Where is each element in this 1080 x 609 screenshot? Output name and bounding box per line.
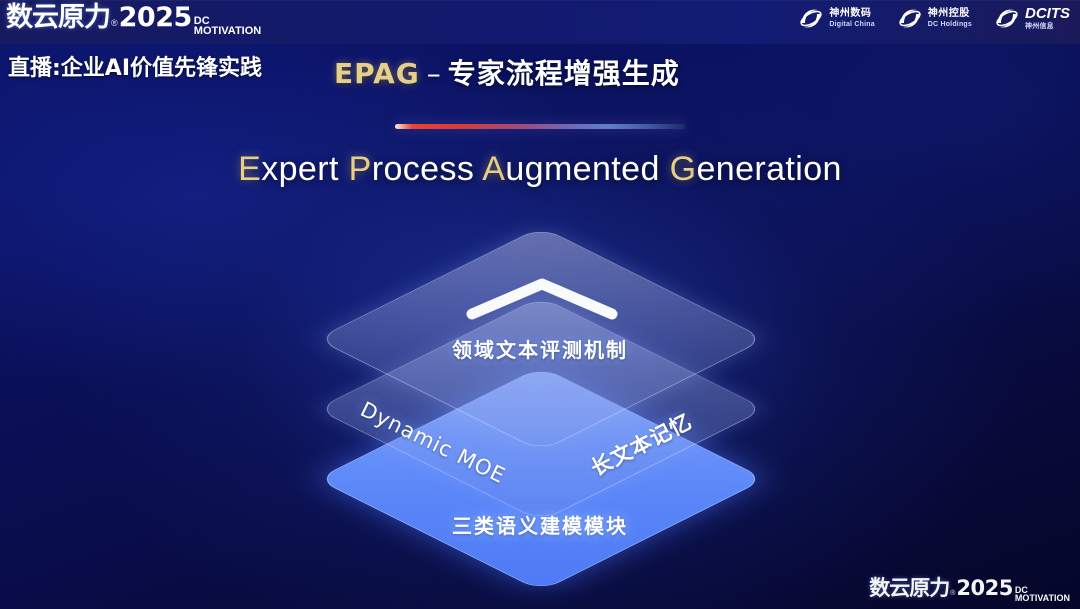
title-acronym: EPAG [334,57,420,90]
partner-name-cn: 神州数码 [829,9,874,19]
brand-logo-dc-motivation: DC MOTIVATION [194,16,261,37]
partner-name-cn: 神州控股 [928,9,972,19]
subtitle-text-run: ugmented [505,150,669,188]
chevron-up-icon [464,274,620,322]
title-divider [395,124,685,129]
slide-header-bar: 数云原力 ® 2025 DC MOTIVATION 神州数码 [0,0,1080,44]
partner-logo-group: 神州数码 Digital China 神州控股 DC Holdings [798,5,1070,31]
brand-logo-motivation: MOTIVATION [194,26,261,37]
subtitle-capital-letter: A [482,150,505,188]
brand-registered-mark: ® [111,18,118,28]
swirl-icon [798,5,824,31]
subtitle-text-run: xpert [261,150,348,188]
swirl-icon [897,5,923,31]
layered-architecture-diagram: 领域文本评测机制 Dynamic MOE 长文本记忆 三类语义建模模块 [300,228,780,558]
partner-name-en: DC Holdings [928,21,972,28]
title-subtitle-cn: 专家流程增强生成 [448,57,680,90]
title-separator: – [427,57,441,90]
partner-logo-text: 神州数码 Digital China [829,9,874,28]
partner-logo-dc-holdings: 神州控股 DC Holdings [897,5,972,31]
brand-logo-year: 2025 [119,4,192,31]
live-broadcast-label: 直播:企业AI价值先锋实践 [8,50,262,82]
partner-name-cn: 神州信息 [1025,23,1070,30]
watermark-motivation: MOTIVATION [1015,594,1070,603]
subtitle-text-run: rocess [372,150,483,188]
page-subtitle-en: Expert Process Augmented Generation [0,150,1080,189]
partner-logo-digital-china: 神州数码 Digital China [798,5,874,31]
partner-logo-text: 神州控股 DC Holdings [928,9,972,28]
brand-logo-cn: 数云原力 [6,4,110,31]
page-title: EPAG–专家流程增强生成 [334,52,680,92]
brand-logo: 数云原力 ® 2025 DC MOTIVATION [6,4,261,39]
partner-name-en: Digital China [829,21,874,28]
subtitle-capital-letter: G [670,150,697,188]
partner-logo-text: DCITS 神州信息 [1025,6,1070,30]
subtitle-capital-letter: P [349,150,372,188]
watermark-cn: 数云原力 [869,578,949,599]
subtitle-text-run: eneration [696,150,841,188]
watermark-dc-motivation: DC MOTIVATION [1015,586,1070,603]
brand-watermark: 数云原力 ® 2025 DC MOTIVATION [869,578,1070,605]
watermark-year: 2025 [956,578,1012,599]
partner-name-en: DCITS [1025,6,1070,21]
presentation-slide: 数云原力 ® 2025 DC MOTIVATION 神州数码 [0,0,1080,609]
swirl-icon [994,5,1020,31]
subtitle-capital-letter: E [238,150,261,188]
watermark-registered-mark: ® [950,590,955,597]
partner-logo-dcits: DCITS 神州信息 [994,5,1070,31]
